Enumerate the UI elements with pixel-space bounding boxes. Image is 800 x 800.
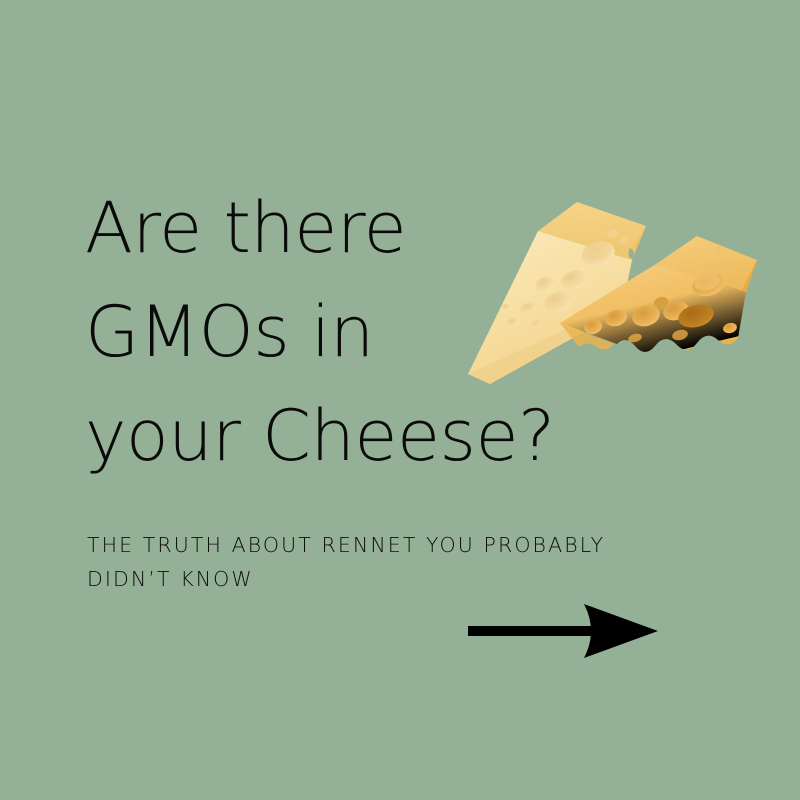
poster-canvas: Are there GMOs in your Cheese? THE TRUTH… <box>0 0 800 800</box>
arrow-shaft <box>468 626 600 636</box>
subtitle-line-2: DIDN’T KNOW <box>87 562 687 596</box>
arrow-svg <box>466 601 662 661</box>
right-arrow-icon[interactable] <box>466 601 662 661</box>
subtitle: THE TRUTH ABOUT RENNET YOU PROBABLY DIDN… <box>87 528 687 596</box>
cheese-svg <box>450 188 780 408</box>
arrow-head <box>584 604 658 658</box>
subtitle-line-1: THE TRUTH ABOUT RENNET YOU PROBABLY <box>87 528 687 562</box>
swiss-cheese-image <box>450 188 780 408</box>
